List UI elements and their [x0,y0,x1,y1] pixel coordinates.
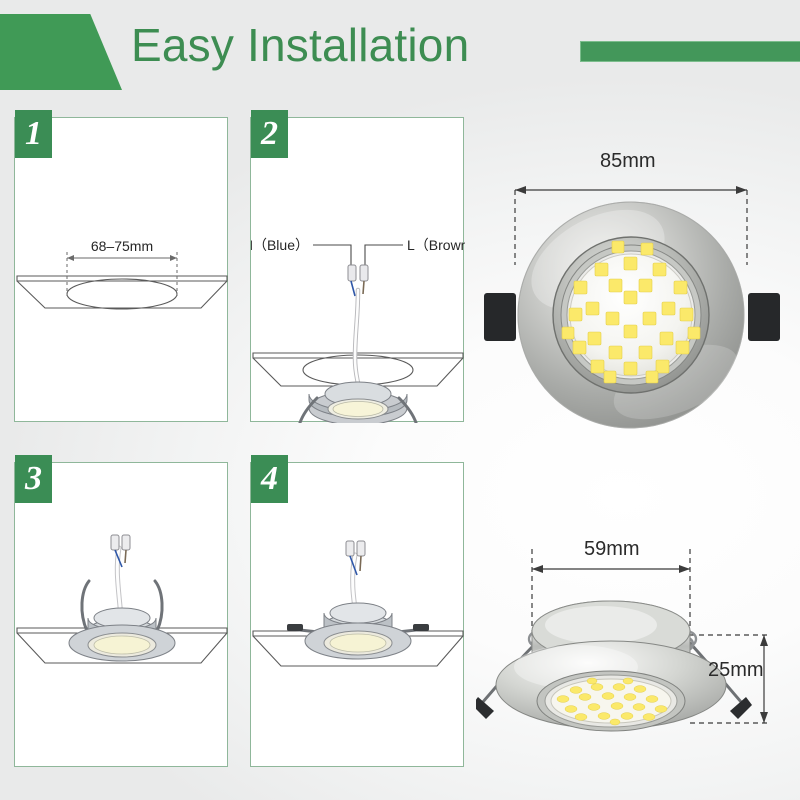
step-2-live-label: L（Brown） [407,237,465,253]
page-title: Easy Installation [131,16,469,74]
downlight-angled-render [476,525,796,775]
dimension-label-59mm: 59mm [584,538,640,560]
step-panel-4 [250,462,464,767]
step-panel-2: N（Blue） L（Brown） [250,117,464,422]
step-badge-2: 2 [251,110,288,158]
downlight-fixture-illustration [299,382,417,423]
step-badge-1: 1 [15,110,52,158]
infographic-canvas: Easy Installation 68–75mm 1 [0,0,800,800]
header-trapezoid-shape [0,14,122,90]
step-1-diagram: 68–75mm [15,118,229,423]
step-panel-3 [14,462,228,767]
spring-clip-left [484,293,516,341]
step-panel-1: 68–75mm [14,117,228,422]
dimension-label-25mm: 25mm [708,659,764,681]
step-2-diagram: N（Blue） L（Brown） [251,118,465,423]
product-photo-angled-view: 59mm 25mm [476,525,796,775]
step-3-diagram [15,463,229,768]
product-photo-front-view: 85mm [476,150,796,435]
step-1-dimension-label: 68–75mm [91,238,153,254]
step-2-neutral-label: N（Blue） [251,237,309,253]
step-badge-3: 3 [15,455,52,503]
step-badge-4: 4 [251,455,288,503]
dimension-label-85mm: 85mm [600,150,656,172]
header-accent-bar [580,41,800,62]
downlight-front-render [476,150,796,435]
downlight-fixture-illustration [305,603,411,659]
spring-clip-right [748,293,780,341]
step-4-diagram [251,463,465,768]
downlight-fixture-illustration [69,608,175,661]
